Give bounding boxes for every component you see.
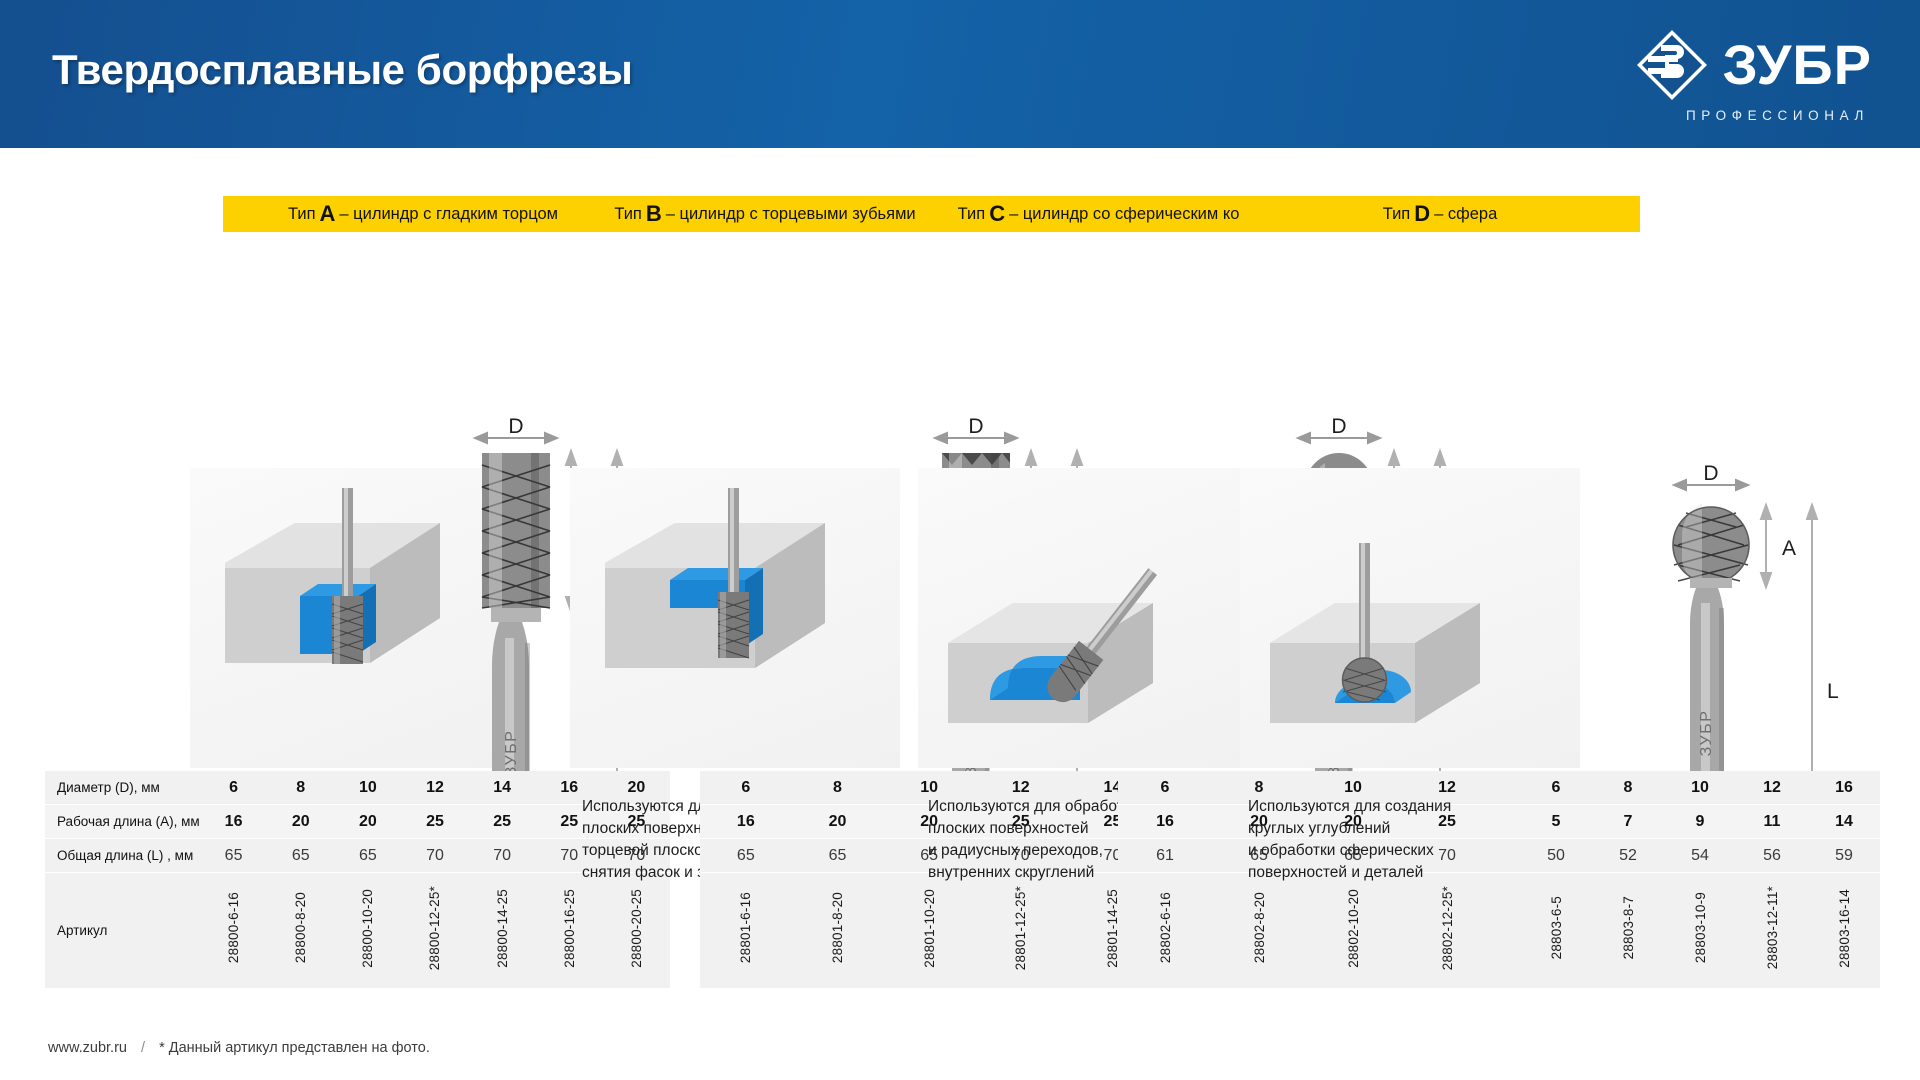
cell-diameter: 8 (267, 771, 334, 804)
cell-working-length: 20 (334, 805, 401, 838)
cell-diameter: 10 (1664, 771, 1736, 804)
type-banner-a: Тип A – цилиндр с гладким торцом (223, 196, 623, 232)
type-letter: B (642, 201, 666, 227)
table-row: 5 7 9 11 14 (1520, 805, 1880, 838)
cell-diameter: 16 (1808, 771, 1880, 804)
article-number: 28800-20-25 (629, 889, 644, 968)
svg-text:D: D (968, 415, 983, 438)
page-footer: www.zubr.ru / * Данный артикул представл… (48, 1040, 430, 1056)
cell-article: 28803-6-5 (1520, 873, 1592, 988)
cell-article: 28803-10-9 (1664, 873, 1736, 988)
cell-diameter: 12 (401, 771, 468, 804)
cell-article: 28802-12-25* (1400, 873, 1494, 988)
article-number: 28803-12-11* (1765, 886, 1780, 969)
cell-total-length: 65 (267, 839, 334, 872)
type-banner-d: Тип D – сфера (1240, 196, 1640, 232)
svg-text:D: D (508, 415, 523, 438)
brand-tagline: ПРОФЕССИОНАЛ (1686, 108, 1869, 123)
cell-article: 28802-6-16 (1118, 873, 1212, 988)
cell-article: 28803-12-11* (1736, 873, 1808, 988)
article-number: 28801-12-25* (1013, 886, 1028, 970)
brand-name: ЗУБР (1723, 37, 1872, 93)
type-description-short: – цилиндр с гладким торцом (339, 205, 558, 224)
cell-article: 28800-16-25 (536, 873, 603, 988)
article-number: 28802-10-20 (1346, 889, 1361, 968)
type-letter: D (1410, 201, 1434, 227)
type-prefix: Тип (614, 205, 642, 224)
website-link[interactable]: www.zubr.ru (48, 1040, 127, 1056)
cell-total-length: 65 (200, 839, 267, 872)
application-scene-d (1240, 468, 1580, 768)
cell-diameter: 8 (1592, 771, 1664, 804)
table-row: Рабочая длина (A), мм 16 20 20 25 25 25 … (45, 805, 670, 838)
illustration-d: D (1520, 298, 1880, 758)
cell-working-length: 16 (200, 805, 267, 838)
cell-article: 28800-14-25 (469, 873, 536, 988)
article-number: 28801-6-16 (738, 892, 753, 963)
type-banner-b: Тип B – цилиндр с торцевыми зубьями (570, 196, 960, 232)
cell-total-length: 65 (700, 839, 792, 872)
type-letter: A (316, 201, 340, 227)
cell-total-length: 56 (1736, 839, 1808, 872)
cell-total-length: 54 (1664, 839, 1736, 872)
cell-diameter: 8 (792, 771, 884, 804)
type-columns: Тип A – цилиндр с гладким торцом (0, 148, 1920, 1028)
cell-diameter: 6 (200, 771, 267, 804)
spec-table-a: Диаметр (D), мм 6 8 10 12 14 16 20 Рабоч… (45, 771, 670, 988)
cell-article: 28800-12-25* (401, 873, 468, 988)
footnote-text: * Данный артикул представлен на фото. (159, 1040, 430, 1056)
article-number: 28800-14-25 (495, 889, 510, 968)
article-number: 28802-12-25* (1440, 886, 1455, 970)
article-number: 28802-8-20 (1252, 892, 1267, 963)
cell-article: 28802-8-20 (1212, 873, 1306, 988)
svg-text:D: D (1331, 415, 1346, 438)
cell-working-length: 11 (1736, 805, 1808, 838)
cell-total-length: 70 (469, 839, 536, 872)
cell-working-length: 25 (401, 805, 468, 838)
article-number: 28803-10-9 (1693, 892, 1708, 963)
cell-working-length: 16 (1118, 805, 1212, 838)
page-header: Твердосплавные борфрезы ЗУБР ПРОФЕССИОНА… (0, 0, 1920, 148)
svg-text:ЗУБР: ЗУБР (503, 730, 520, 777)
article-number: 28801-10-20 (922, 889, 937, 968)
cell-article: 28800-8-20 (267, 873, 334, 988)
type-letter: C (985, 201, 1009, 227)
article-number: 28802-6-16 (1158, 892, 1173, 963)
cell-working-length: 9 (1664, 805, 1736, 838)
cell-working-length: 5 (1520, 805, 1592, 838)
row-label-working-length: Рабочая длина (A), мм (45, 805, 200, 838)
footer-separator: / (131, 1040, 155, 1056)
cell-diameter: 6 (1520, 771, 1592, 804)
article-number: 28800-12-25* (427, 886, 442, 970)
cell-working-length: 16 (700, 805, 792, 838)
cell-working-length: 25 (469, 805, 536, 838)
svg-text:ЗУБР: ЗУБР (1698, 710, 1715, 757)
table-row: Артикул 28800-6-16 28800-8-20 28800-10-2… (45, 873, 670, 988)
cell-article: 28800-20-25 (603, 873, 670, 988)
article-number: 28800-10-20 (360, 889, 375, 968)
cell-article: 28803-8-7 (1592, 873, 1664, 988)
table-row: Диаметр (D), мм 6 8 10 12 14 16 20 (45, 771, 670, 804)
cell-working-length: 20 (267, 805, 334, 838)
cell-diameter: 12 (1736, 771, 1808, 804)
cell-article: 28802-10-20 (1306, 873, 1400, 988)
page-title: Твердосплавные борфрезы (52, 46, 632, 94)
table-row: Общая длина (L) , мм 65 65 65 70 70 70 7… (45, 839, 670, 872)
table-row: 28803-6-5 28803-8-7 28803-10-9 28803-12-… (1520, 873, 1880, 988)
article-number: 28801-8-20 (830, 892, 845, 963)
article-number: 28800-8-20 (293, 892, 308, 963)
spec-table-d: 6 8 10 12 16 5 7 9 11 14 (1520, 771, 1880, 988)
row-label-diameter: Диаметр (D), мм (45, 771, 200, 804)
type-description-short: – цилиндр со сферическим концом (1009, 205, 1278, 224)
zubr-diamond-arrow-icon (1635, 28, 1709, 102)
cell-total-length: 65 (792, 839, 884, 872)
cell-diameter: 6 (1118, 771, 1212, 804)
application-scene-b (570, 468, 900, 768)
article-number: 28803-6-5 (1549, 896, 1564, 959)
cell-diameter: 14 (469, 771, 536, 804)
table-row: 28802-6-16 28802-8-20 28802-10-20 28802-… (1118, 873, 1588, 988)
cell-working-length: 20 (792, 805, 884, 838)
cell-total-length: 52 (1592, 839, 1664, 872)
cell-article: 28801-10-20 (883, 873, 975, 988)
type-column-d: Тип D – сфера (1520, 148, 1880, 1028)
cell-diameter: 6 (700, 771, 792, 804)
table-row: 6 8 10 12 16 (1520, 771, 1880, 804)
article-number: 28803-16-14 (1837, 889, 1852, 968)
cell-total-length: 50 (1520, 839, 1592, 872)
datasheet-page: Твердосплавные борфрезы ЗУБР ПРОФЕССИОНА… (0, 0, 1920, 1080)
type-prefix: Тип (958, 205, 986, 224)
svg-text:A: A (1782, 537, 1796, 560)
article-number: 28803-8-7 (1621, 896, 1636, 959)
cell-article: 28801-6-16 (700, 873, 792, 988)
type-prefix: Тип (288, 205, 316, 224)
usage-description-d: Используются для создания круглых углубл… (1248, 796, 1538, 884)
cell-diameter: 10 (334, 771, 401, 804)
type-description-short: – сфера (1434, 205, 1497, 224)
table-row: 50 52 54 56 59 (1520, 839, 1880, 872)
row-label-total-length: Общая длина (L) , мм (45, 839, 200, 872)
cell-article: 28800-6-16 (200, 873, 267, 988)
cell-total-length: 65 (334, 839, 401, 872)
svg-text:L: L (1827, 680, 1839, 703)
cell-working-length: 7 (1592, 805, 1664, 838)
article-number: 28800-6-16 (226, 892, 241, 963)
application-scene-c (918, 468, 1248, 768)
row-label-article: Артикул (45, 873, 200, 988)
cell-total-length: 61 (1118, 839, 1212, 872)
article-number: 28800-16-25 (562, 889, 577, 968)
cell-article: 28803-16-14 (1808, 873, 1880, 988)
cell-article: 28801-12-25* (975, 873, 1067, 988)
cell-total-length: 70 (401, 839, 468, 872)
svg-text:D: D (1703, 463, 1718, 485)
brand-logo: ЗУБР ПРОФЕССИОНАЛ (1635, 28, 1872, 123)
application-scene-a (190, 468, 510, 768)
cell-article: 28801-8-20 (792, 873, 884, 988)
cell-article: 28800-10-20 (334, 873, 401, 988)
type-prefix: Тип (1383, 205, 1411, 224)
cell-working-length: 14 (1808, 805, 1880, 838)
cell-total-length: 59 (1808, 839, 1880, 872)
type-description-short: – цилиндр с торцевыми зубьями (666, 205, 916, 224)
